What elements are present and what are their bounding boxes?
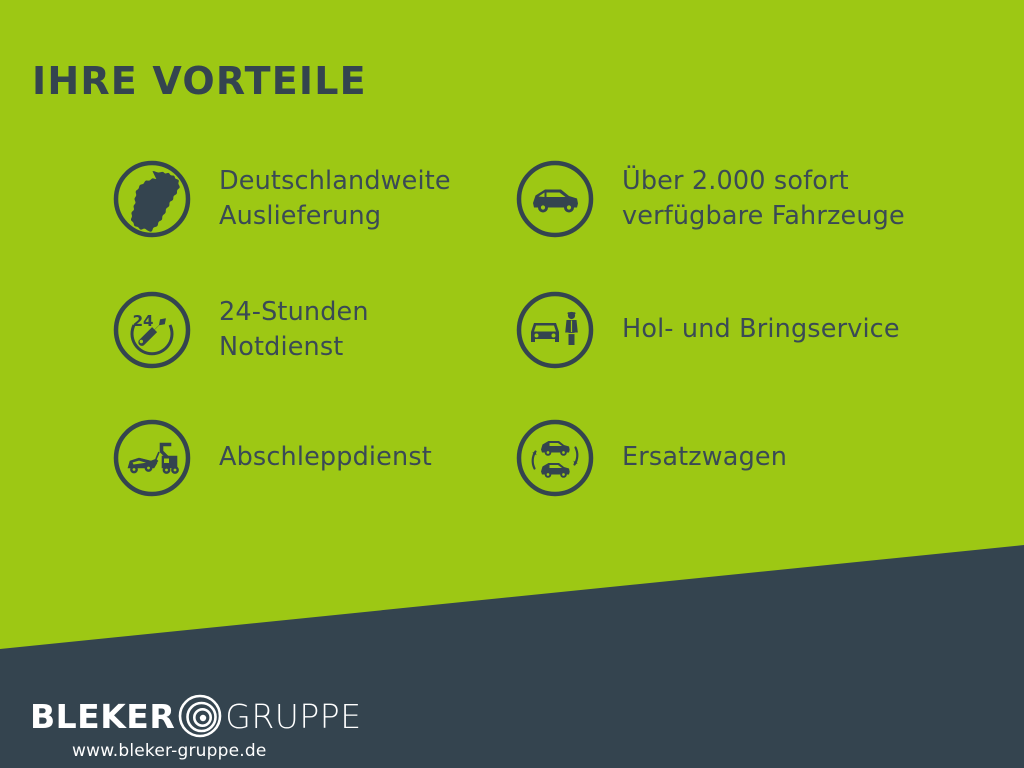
two-cars-exchange-icon: [515, 418, 595, 498]
benefit-label: Hol- und Bringservice: [622, 312, 900, 347]
green-background-panel: [0, 0, 1024, 768]
benefit-label: 24-Stunden Notdienst: [219, 295, 369, 365]
clock-wrench-24h-icon: 24: [112, 290, 192, 370]
bleker-spiral-logo-icon: [177, 693, 223, 739]
benefit-item-24-stunden-notdienst[interactable]: 24 24-Stunden Notdienst: [112, 289, 369, 371]
benefit-item-ersatzwagen[interactable]: Ersatzwagen: [515, 417, 787, 499]
benefit-label: Abschleppdienst: [219, 440, 432, 475]
logo-secondary-text: GRUPPE: [225, 700, 361, 733]
logo-row: BLEKER GRUPPE: [30, 694, 450, 738]
benefit-item-verfuegbare-fahrzeuge[interactable]: Über 2.000 sofort verfügbare Fahrzeuge: [515, 158, 905, 240]
tow-truck-icon: [112, 418, 192, 498]
footer-website-url[interactable]: www.bleker-gruppe.de: [72, 741, 450, 761]
benefit-label: Deutschlandweite Auslieferung: [219, 164, 451, 234]
benefit-label: Über 2.000 sofort verfügbare Fahrzeuge: [622, 164, 905, 234]
benefit-item-deutschlandweite-auslieferung[interactable]: Deutschlandweite Auslieferung: [112, 158, 451, 240]
benefit-item-hol-und-bringservice[interactable]: Hol- und Bringservice: [515, 289, 900, 371]
benefit-label: Ersatzwagen: [622, 440, 787, 475]
car-with-driver-icon: [515, 290, 595, 370]
logo-primary-text: BLEKER: [30, 700, 175, 733]
svg-text:24: 24: [133, 312, 154, 330]
slide-root: IHRE VORTEILE Deutschlandweite Ausliefer…: [0, 0, 1024, 768]
page-title: IHRE VORTEILE: [32, 62, 367, 100]
footer-logo[interactable]: BLEKER GRUPPE www.bleker-gruppe.de: [30, 694, 450, 761]
car-side-icon: [515, 159, 595, 239]
benefit-item-abschleppdienst[interactable]: Abschleppdienst: [112, 417, 432, 499]
germany-map-icon: [112, 159, 192, 239]
